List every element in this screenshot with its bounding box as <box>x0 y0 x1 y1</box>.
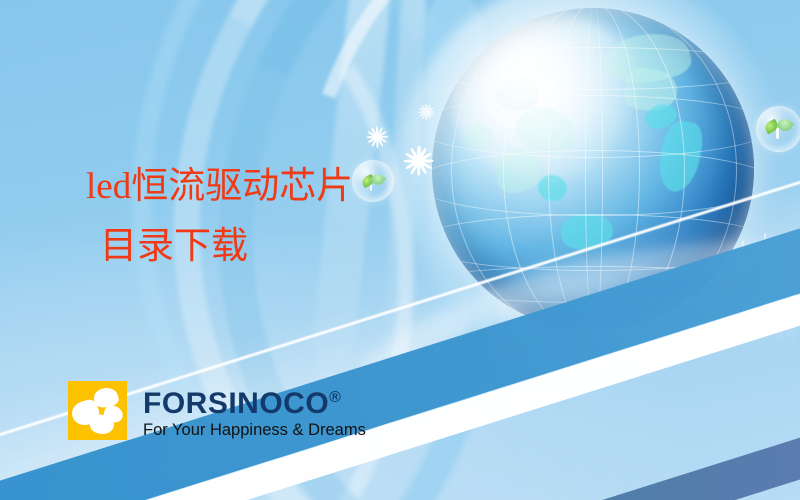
page-title-line-2: 目录下载 <box>100 223 353 271</box>
globe-icon <box>432 8 754 330</box>
brand-logo[interactable]: FORSINOCO® For Your Happiness & Dreams <box>68 381 366 440</box>
brand-name: FORSINOCO® <box>143 382 366 420</box>
bubble-leaf-b <box>776 116 794 134</box>
bubble-leaf-left <box>352 160 394 202</box>
land-south-america <box>655 118 704 194</box>
globe-sphere <box>432 8 754 330</box>
brand-text: FORSINOCO® For Your Happiness & Dreams <box>143 382 366 440</box>
globe-highlight <box>451 14 651 181</box>
slide-canvas: led恒流驱动芯片 目录下载 FORSINOCO® For Your Happi… <box>0 0 800 500</box>
registered-trademark-icon: ® <box>329 389 341 406</box>
bubble-leaf-right <box>756 106 800 152</box>
brand-name-text: FORSINOCO <box>143 387 329 420</box>
page-title: led恒流驱动芯片 目录下载 <box>86 163 353 271</box>
globe-bottom-glow <box>458 246 728 330</box>
page-title-line-1: led恒流驱动芯片 <box>86 163 353 211</box>
brand-tagline: For Your Happiness & Dreams <box>143 421 366 440</box>
four-petal-flower-icon <box>68 381 127 440</box>
bubble-leaf-center <box>494 322 544 372</box>
bubble-leaf-b <box>516 334 536 353</box>
bubble-leaf-b <box>370 172 386 188</box>
